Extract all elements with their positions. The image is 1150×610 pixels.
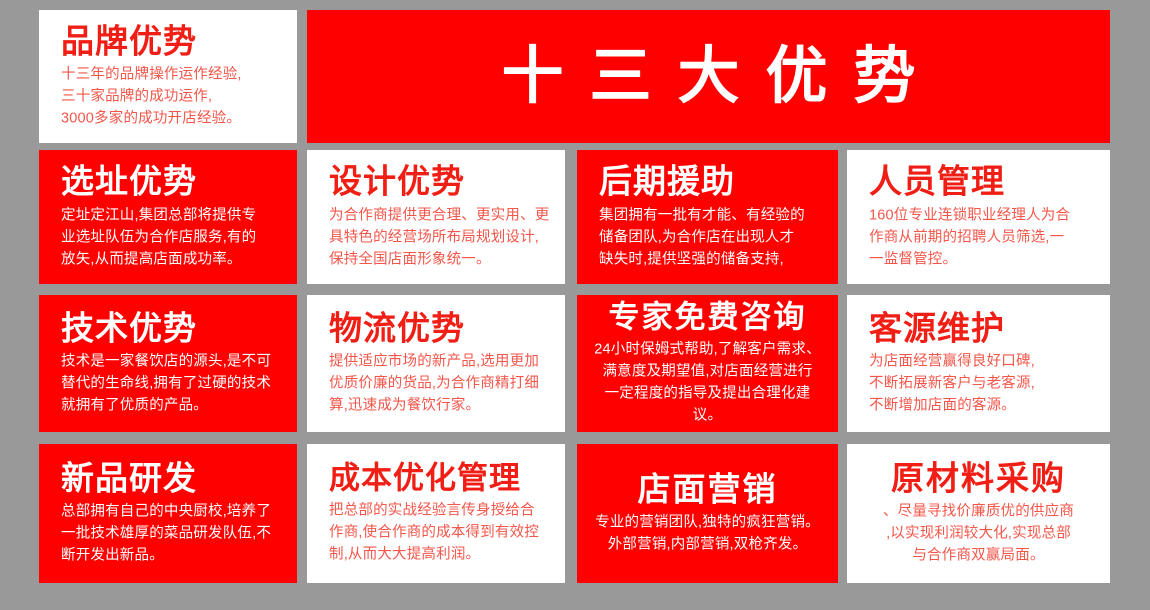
card-title: 原材料采购: [861, 460, 1096, 496]
card-content: 设计优势 为合作商提供更合理、更实用、更 具特色的经营场所布局规划设计, 保持全…: [307, 164, 565, 271]
card-title: 店面营销: [591, 471, 824, 507]
card-title: 品牌优势: [61, 23, 283, 59]
card-title: 后期援助: [599, 164, 824, 200]
card-content: 专家免费咨询 24小时保姆式帮助,了解客户需求、 满意度及期望值,对店面经营进行…: [577, 300, 838, 427]
banner-title: 十三大优势: [475, 46, 941, 108]
card-body: 技术是一家餐饮店的源头,是不可 替代的生命线,拥有了过硬的技术 就拥有了优质的产…: [61, 351, 283, 417]
card-content: 后期援助 集团拥有一批有才能、有经验的 储备团队,为合作店在出现人才 缺失时,提…: [577, 164, 838, 271]
card-content: 新品研发 总部拥有自己的中央厨校,培养了 一批技术雄厚的菜品研发队伍,不 断开发…: [39, 460, 297, 567]
card-later-stage-support: 后期援助 集团拥有一批有才能、有经验的 储备团队,为合作店在出现人才 缺失时,提…: [577, 150, 838, 284]
card-brand-advantage: 品牌优势 十三年的品牌操作运作经验, 三十家品牌的成功运作, 3000多家的成功…: [39, 10, 297, 143]
main-banner: 十三大优势: [307, 10, 1110, 143]
card-title: 物流优势: [329, 310, 551, 346]
card-title: 客源维护: [869, 310, 1096, 346]
card-content: 物流优势 提供适应市场的新产品,选用更加 优质价廉的货品,为合作商精打细 算,迅…: [307, 310, 565, 417]
card-logistics-advantage: 物流优势 提供适应市场的新产品,选用更加 优质价廉的货品,为合作商精打细 算,迅…: [307, 295, 565, 432]
card-content: 技术优势 技术是一家餐饮店的源头,是不可 替代的生命线,拥有了过硬的技术 就拥有…: [39, 310, 297, 417]
poster-root: 品牌优势 十三年的品牌操作运作经验, 三十家品牌的成功运作, 3000多家的成功…: [0, 0, 1150, 610]
card-content: 成本优化管理 把总部的实战经验言传身授给合 作商,使合作商的成本得到有效控 制,…: [307, 461, 565, 566]
card-body: 提供适应市场的新产品,选用更加 优质价廉的货品,为合作商精打细 算,迅速成为餐饮…: [329, 351, 551, 417]
card-content: 选址优势 定址定江山,集团总部将提供专 业选址队伍为合作店服务,有的 放矢,从而…: [39, 164, 297, 271]
card-title: 选址优势: [61, 164, 283, 200]
card-content: 人员管理 160位专业连锁职业经理人为合 作商从前期的招聘人员筛选,一 一监督管…: [847, 164, 1110, 271]
card-raw-material-procurement: 原材料采购 、尽量寻找价廉质优的供应商 ,以实现利润较大化,实现总部 与合作商双…: [847, 444, 1110, 583]
card-new-product-development: 新品研发 总部拥有自己的中央厨校,培养了 一批技术雄厚的菜品研发队伍,不 断开发…: [39, 444, 297, 583]
card-title: 新品研发: [61, 460, 283, 496]
card-technology-advantage: 技术优势 技术是一家餐饮店的源头,是不可 替代的生命线,拥有了过硬的技术 就拥有…: [39, 295, 297, 432]
card-content: 客源维护 为店面经营赢得良好口碑, 不断拓展新客户与老客源, 不断增加店面的客源…: [847, 310, 1110, 417]
card-customer-retention: 客源维护 为店面经营赢得良好口碑, 不断拓展新客户与老客源, 不断增加店面的客源…: [847, 295, 1110, 432]
card-title: 设计优势: [329, 164, 551, 200]
card-body: 为合作商提供更合理、更实用、更 具特色的经营场所布局规划设计, 保持全国店面形象…: [329, 204, 551, 270]
card-body: 专业的营销团队,独特的疯狂营销。 外部营销,内部营销,双枪齐发。: [591, 512, 824, 556]
card-content: 店面营销 专业的营销团队,独特的疯狂营销。 外部营销,内部营销,双枪齐发。: [577, 471, 838, 556]
card-personnel-management: 人员管理 160位专业连锁职业经理人为合 作商从前期的招聘人员筛选,一 一监督管…: [847, 150, 1110, 284]
card-title: 技术优势: [61, 310, 283, 346]
card-body: 集团拥有一批有才能、有经验的 储备团队,为合作店在出现人才 缺失时,提供坚强的储…: [599, 204, 824, 270]
card-body: 24小时保姆式帮助,了解客户需求、 满意度及期望值,对店面经营进行 一定程度的指…: [591, 339, 824, 427]
card-cost-optimization-management: 成本优化管理 把总部的实战经验言传身授给合 作商,使合作商的成本得到有效控 制,…: [307, 444, 565, 583]
card-site-selection-advantage: 选址优势 定址定江山,集团总部将提供专 业选址队伍为合作店服务,有的 放矢,从而…: [39, 150, 297, 284]
card-body: 160位专业连锁职业经理人为合 作商从前期的招聘人员筛选,一 一监督管控。: [869, 204, 1096, 270]
card-content: 品牌优势 十三年的品牌操作运作经验, 三十家品牌的成功运作, 3000多家的成功…: [39, 23, 297, 130]
card-body: 定址定江山,集团总部将提供专 业选址队伍为合作店服务,有的 放矢,从而提高店面成…: [61, 204, 283, 270]
card-body: 总部拥有自己的中央厨校,培养了 一批技术雄厚的菜品研发队伍,不 断开发出新品。: [61, 501, 283, 567]
card-content: 原材料采购 、尽量寻找价廉质优的供应商 ,以实现利润较大化,实现总部 与合作商双…: [847, 460, 1110, 567]
card-expert-free-consultation: 专家免费咨询 24小时保姆式帮助,了解客户需求、 满意度及期望值,对店面经营进行…: [577, 295, 838, 432]
card-body: 十三年的品牌操作运作经验, 三十家品牌的成功运作, 3000多家的成功开店经验。: [61, 64, 283, 130]
card-title: 专家免费咨询: [591, 300, 824, 333]
card-title: 成本优化管理: [329, 461, 551, 494]
card-body: 把总部的实战经验言传身授给合 作商,使合作商的成本得到有效控 制,从而大大提高利…: [329, 500, 551, 566]
card-design-advantage: 设计优势 为合作商提供更合理、更实用、更 具特色的经营场所布局规划设计, 保持全…: [307, 150, 565, 284]
card-body: 、尽量寻找价廉质优的供应商 ,以实现利润较大化,实现总部 与合作商双赢局面。: [861, 501, 1096, 567]
card-store-marketing: 店面营销 专业的营销团队,独特的疯狂营销。 外部营销,内部营销,双枪齐发。: [577, 444, 838, 583]
card-title: 人员管理: [869, 164, 1096, 200]
card-body: 为店面经营赢得良好口碑, 不断拓展新客户与老客源, 不断增加店面的客源。: [869, 351, 1096, 417]
